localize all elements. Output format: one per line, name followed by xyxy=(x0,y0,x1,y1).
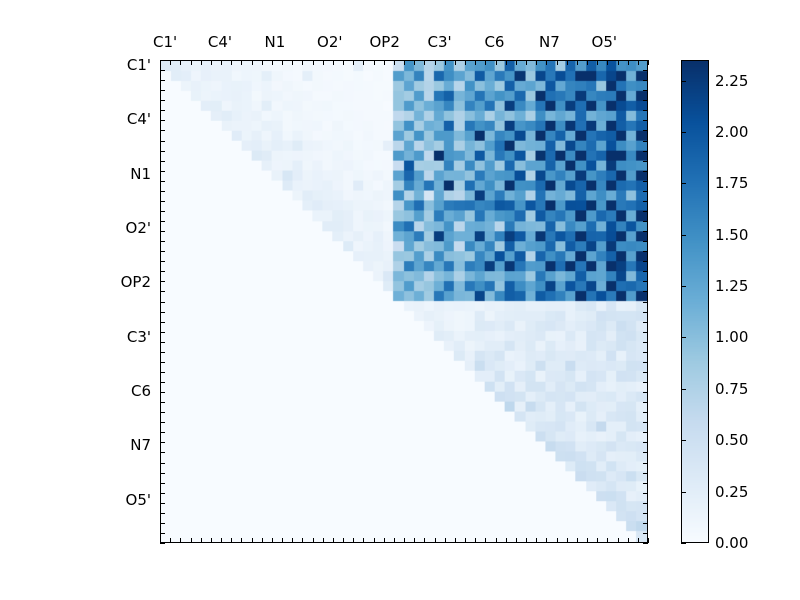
x-tick-top xyxy=(638,60,639,65)
y-tick-label-1: C4' xyxy=(0,110,151,128)
y-tick-left xyxy=(160,302,165,303)
y-tick-right xyxy=(643,141,648,142)
x-tick-bottom xyxy=(404,538,405,543)
colorbar-tick-4 xyxy=(681,337,686,338)
x-tick-top xyxy=(567,60,568,65)
x-tick-top xyxy=(475,60,476,65)
x-tick-top xyxy=(394,60,395,65)
y-tick-label-2: N1 xyxy=(0,165,151,183)
colorbar-tick-label-3: 0.75 xyxy=(715,380,748,398)
y-tick-right xyxy=(643,251,648,252)
y-tick-right xyxy=(643,432,648,433)
y-tick-left xyxy=(160,291,165,292)
x-tick-top xyxy=(506,60,507,65)
x-tick-bottom xyxy=(496,538,497,543)
y-tick-left xyxy=(160,422,165,423)
y-tick-left xyxy=(160,90,165,91)
x-tick-top xyxy=(262,60,263,65)
x-tick-top xyxy=(191,60,192,65)
x-tick-top xyxy=(577,60,578,65)
y-tick-right xyxy=(643,100,648,101)
x-tick-top xyxy=(485,60,486,65)
x-tick-top xyxy=(272,60,273,65)
y-tick-left xyxy=(160,513,165,514)
x-tick-top xyxy=(496,60,497,65)
y-tick-right xyxy=(643,442,648,443)
y-tick-left xyxy=(160,452,165,453)
y-tick-left xyxy=(160,120,165,121)
x-tick-bottom xyxy=(414,538,415,543)
colorbar-tick-5 xyxy=(681,286,686,287)
y-tick-right xyxy=(643,181,648,182)
y-tick-right xyxy=(643,473,648,474)
x-tick-top xyxy=(323,60,324,65)
x-tick-top xyxy=(170,60,171,65)
x-tick-bottom xyxy=(384,538,385,543)
y-tick-right xyxy=(643,191,648,192)
colorbar-tick-label-8: 2.00 xyxy=(715,123,748,141)
x-tick-bottom xyxy=(577,538,578,543)
figure-canvas: C1'C4'N1O2'OP2C3'C6N7O5' C1'C4'N1O2'OP2C… xyxy=(0,0,800,600)
y-tick-left xyxy=(160,251,165,252)
y-tick-left xyxy=(160,80,165,81)
x-tick-top xyxy=(587,60,588,65)
x-tick-bottom xyxy=(191,538,192,543)
x-tick-top xyxy=(607,60,608,65)
x-tick-top xyxy=(536,60,537,65)
colorbar-tick-label-1: 0.25 xyxy=(715,483,748,501)
y-tick-left xyxy=(160,342,165,343)
y-tick-right xyxy=(643,70,648,71)
y-tick-left xyxy=(160,432,165,433)
x-tick-bottom xyxy=(597,538,598,543)
x-tick-bottom xyxy=(211,538,212,543)
y-tick-left xyxy=(160,141,165,142)
x-tick-top xyxy=(445,60,446,65)
x-tick-top xyxy=(628,60,629,65)
y-tick-left xyxy=(160,130,165,131)
y-tick-right xyxy=(643,452,648,453)
y-tick-right xyxy=(643,201,648,202)
x-tick-bottom xyxy=(587,538,588,543)
y-tick-right xyxy=(643,493,648,494)
y-tick-left xyxy=(160,503,165,504)
y-tick-right xyxy=(643,221,648,222)
y-tick-left xyxy=(160,161,165,162)
y-tick-label-8: O5' xyxy=(0,491,151,509)
x-tick-bottom xyxy=(170,538,171,543)
y-tick-left xyxy=(160,392,165,393)
y-tick-right xyxy=(643,302,648,303)
x-tick-bottom xyxy=(221,538,222,543)
y-tick-left xyxy=(160,533,165,534)
y-tick-right xyxy=(643,523,648,524)
y-tick-left xyxy=(160,151,165,152)
x-tick-bottom xyxy=(353,538,354,543)
colorbar-tick-8 xyxy=(681,132,686,133)
x-tick-label-6: C6 xyxy=(484,33,504,51)
x-tick-bottom xyxy=(231,538,232,543)
colorbar-tick-label-4: 1.00 xyxy=(715,328,748,346)
x-tick-bottom xyxy=(455,538,456,543)
x-tick-bottom xyxy=(343,538,344,543)
y-tick-right xyxy=(643,241,648,242)
x-tick-top xyxy=(465,60,466,65)
x-tick-top xyxy=(435,60,436,65)
x-tick-bottom xyxy=(333,538,334,543)
x-tick-top xyxy=(252,60,253,65)
y-tick-label-0: C1' xyxy=(0,56,151,74)
colorbar-tick-label-2: 0.50 xyxy=(715,431,748,449)
x-tick-bottom xyxy=(252,538,253,543)
y-tick-right xyxy=(643,60,648,61)
x-tick-label-4: OP2 xyxy=(369,33,399,51)
x-tick-label-8: O5' xyxy=(592,33,617,51)
x-tick-bottom xyxy=(506,538,507,543)
x-tick-bottom xyxy=(292,538,293,543)
x-tick-top xyxy=(516,60,517,65)
y-tick-right xyxy=(643,281,648,282)
y-tick-left xyxy=(160,412,165,413)
y-tick-right xyxy=(643,130,648,131)
colorbar-tick-9 xyxy=(681,81,686,82)
x-tick-bottom xyxy=(628,538,629,543)
x-tick-top xyxy=(618,60,619,65)
y-tick-left xyxy=(160,402,165,403)
colorbar-tick-label-7: 1.75 xyxy=(715,174,748,192)
y-tick-left xyxy=(160,372,165,373)
y-tick-left xyxy=(160,483,165,484)
x-tick-top xyxy=(455,60,456,65)
x-tick-top xyxy=(231,60,232,65)
y-tick-left xyxy=(160,442,165,443)
x-tick-bottom xyxy=(536,538,537,543)
y-tick-right xyxy=(643,362,648,363)
y-tick-left xyxy=(160,543,165,544)
y-tick-left xyxy=(160,221,165,222)
x-tick-bottom xyxy=(607,538,608,543)
x-tick-top xyxy=(374,60,375,65)
x-tick-bottom xyxy=(638,538,639,543)
colorbar-tick-label-9: 2.25 xyxy=(715,72,748,90)
y-tick-right xyxy=(643,533,648,534)
x-tick-top xyxy=(424,60,425,65)
x-tick-top xyxy=(302,60,303,65)
y-tick-label-3: O2' xyxy=(0,219,151,237)
x-tick-top xyxy=(557,60,558,65)
y-tick-right xyxy=(643,402,648,403)
y-tick-right xyxy=(643,463,648,464)
x-tick-bottom xyxy=(435,538,436,543)
y-tick-right xyxy=(643,151,648,152)
y-tick-left xyxy=(160,322,165,323)
x-tick-top xyxy=(343,60,344,65)
y-tick-left xyxy=(160,332,165,333)
y-tick-left xyxy=(160,191,165,192)
x-tick-top xyxy=(404,60,405,65)
y-tick-right xyxy=(643,392,648,393)
y-tick-right xyxy=(643,503,648,504)
x-tick-top xyxy=(414,60,415,65)
y-tick-left xyxy=(160,231,165,232)
x-tick-label-2: N1 xyxy=(264,33,285,51)
y-tick-right xyxy=(643,412,648,413)
y-tick-right xyxy=(643,90,648,91)
x-tick-label-1: C4' xyxy=(208,33,232,51)
y-tick-label-5: C3' xyxy=(0,328,151,346)
y-tick-right xyxy=(643,382,648,383)
y-tick-left xyxy=(160,473,165,474)
y-tick-label-7: N7 xyxy=(0,436,151,454)
y-tick-right xyxy=(643,161,648,162)
y-tick-right xyxy=(643,322,648,323)
y-tick-right xyxy=(643,120,648,121)
x-tick-bottom xyxy=(313,538,314,543)
y-tick-right xyxy=(643,171,648,172)
x-tick-top xyxy=(292,60,293,65)
y-tick-right xyxy=(643,483,648,484)
x-tick-bottom xyxy=(557,538,558,543)
x-tick-label-3: O2' xyxy=(317,33,342,51)
y-tick-label-6: C6 xyxy=(0,382,151,400)
colorbar-tick-label-0: 0.00 xyxy=(715,534,748,552)
x-tick-bottom xyxy=(262,538,263,543)
y-tick-right xyxy=(643,352,648,353)
x-tick-top xyxy=(180,60,181,65)
y-tick-left xyxy=(160,171,165,172)
y-tick-right xyxy=(643,312,648,313)
x-tick-bottom xyxy=(567,538,568,543)
y-tick-right xyxy=(643,261,648,262)
x-tick-top xyxy=(201,60,202,65)
y-tick-right xyxy=(643,422,648,423)
y-tick-left xyxy=(160,493,165,494)
colorbar-gradient xyxy=(682,61,708,542)
x-tick-bottom xyxy=(516,538,517,543)
x-tick-bottom xyxy=(648,538,649,543)
x-tick-bottom xyxy=(546,538,547,543)
y-tick-left xyxy=(160,463,165,464)
y-tick-right xyxy=(643,513,648,514)
y-tick-right xyxy=(643,291,648,292)
y-tick-left xyxy=(160,241,165,242)
y-tick-left xyxy=(160,261,165,262)
x-tick-top xyxy=(333,60,334,65)
y-tick-right xyxy=(643,211,648,212)
x-tick-top xyxy=(241,60,242,65)
y-tick-right xyxy=(643,110,648,111)
x-tick-bottom xyxy=(302,538,303,543)
y-tick-label-4: OP2 xyxy=(0,273,151,291)
heatmap-plot-area xyxy=(160,60,648,543)
x-tick-bottom xyxy=(374,538,375,543)
x-tick-top xyxy=(313,60,314,65)
x-tick-top xyxy=(221,60,222,65)
x-tick-bottom xyxy=(282,538,283,543)
x-tick-top xyxy=(526,60,527,65)
y-tick-left xyxy=(160,181,165,182)
y-tick-left xyxy=(160,110,165,111)
y-tick-right xyxy=(643,543,648,544)
x-tick-top xyxy=(282,60,283,65)
y-tick-left xyxy=(160,100,165,101)
y-tick-left xyxy=(160,271,165,272)
y-tick-right xyxy=(643,271,648,272)
colorbar-tick-label-6: 1.50 xyxy=(715,226,748,244)
y-tick-left xyxy=(160,211,165,212)
y-tick-left xyxy=(160,70,165,71)
x-tick-top xyxy=(353,60,354,65)
colorbar-tick-label-5: 1.25 xyxy=(715,277,748,295)
x-tick-bottom xyxy=(424,538,425,543)
colorbar-tick-6 xyxy=(681,235,686,236)
x-tick-bottom xyxy=(241,538,242,543)
y-tick-left xyxy=(160,352,165,353)
y-tick-left xyxy=(160,60,165,61)
y-tick-right xyxy=(643,80,648,81)
x-tick-bottom xyxy=(445,538,446,543)
y-tick-right xyxy=(643,372,648,373)
x-tick-bottom xyxy=(180,538,181,543)
x-tick-bottom xyxy=(465,538,466,543)
colorbar-tick-7 xyxy=(681,183,686,184)
heatmap-cells xyxy=(161,61,647,542)
x-tick-bottom xyxy=(485,538,486,543)
x-tick-bottom xyxy=(475,538,476,543)
y-tick-right xyxy=(643,332,648,333)
y-tick-left xyxy=(160,312,165,313)
x-tick-top xyxy=(546,60,547,65)
x-tick-top xyxy=(384,60,385,65)
y-tick-left xyxy=(160,201,165,202)
x-tick-top xyxy=(211,60,212,65)
x-tick-top xyxy=(597,60,598,65)
y-tick-left xyxy=(160,382,165,383)
colorbar-tick-2 xyxy=(681,440,686,441)
x-tick-label-7: N7 xyxy=(539,33,560,51)
x-tick-bottom xyxy=(363,538,364,543)
x-tick-label-0: C1' xyxy=(153,33,177,51)
x-tick-top xyxy=(363,60,364,65)
y-tick-right xyxy=(643,342,648,343)
y-tick-right xyxy=(643,231,648,232)
x-tick-bottom xyxy=(201,538,202,543)
y-tick-left xyxy=(160,523,165,524)
colorbar-tick-1 xyxy=(681,492,686,493)
colorbar-tick-0 xyxy=(681,543,686,544)
x-tick-bottom xyxy=(272,538,273,543)
x-tick-bottom xyxy=(394,538,395,543)
y-tick-left xyxy=(160,362,165,363)
y-tick-left xyxy=(160,281,165,282)
x-tick-bottom xyxy=(323,538,324,543)
x-tick-bottom xyxy=(618,538,619,543)
x-tick-label-5: C3' xyxy=(428,33,452,51)
x-tick-bottom xyxy=(526,538,527,543)
colorbar-tick-3 xyxy=(681,389,686,390)
x-tick-top xyxy=(648,60,649,65)
